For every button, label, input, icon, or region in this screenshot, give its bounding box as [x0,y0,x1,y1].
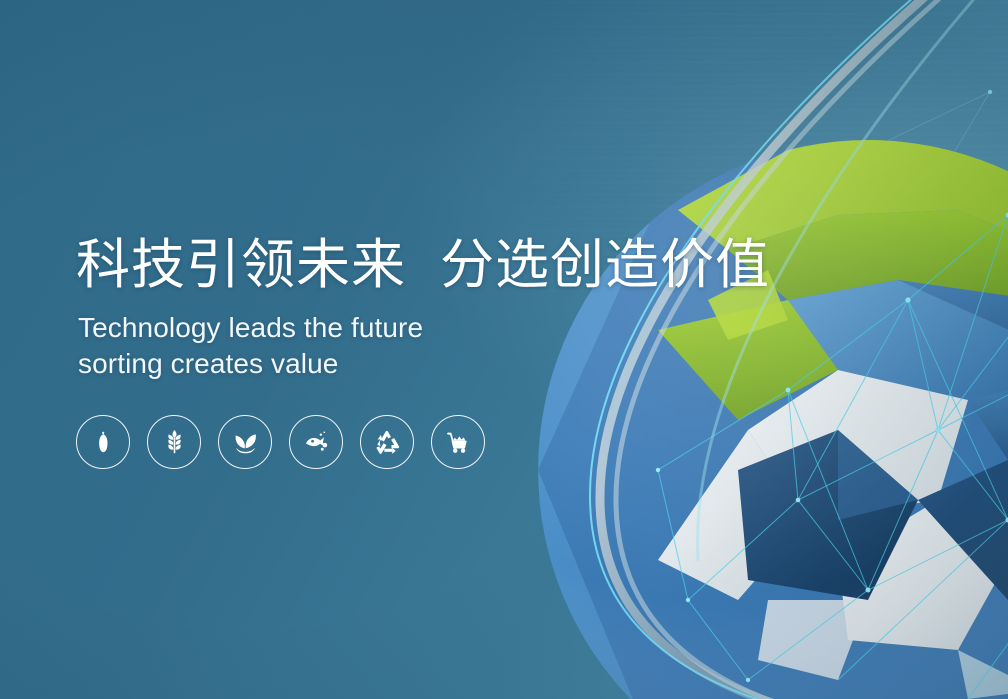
mining-cart-icon [444,428,473,457]
headline-part-2: 分选创造价值 [440,235,770,295]
subtitle: Technology leads the future sorting crea… [78,310,776,382]
subtitle-line-1: Technology leads the future [78,310,776,346]
promo-banner: 科技引领未来分选创造价值 Technology leads the future… [0,0,1008,699]
icon-badge-mining-cart[interactable] [431,415,485,469]
page-title: 科技引领未来分选创造价值 [76,236,776,294]
fish-icon [302,428,331,457]
icon-badge-leaves[interactable] [218,415,272,469]
banner-copy: 科技引领未来分选创造价值 Technology leads the future… [76,236,776,382]
industry-icon-row [76,415,485,469]
icon-badge-recycle[interactable] [360,415,414,469]
leaves-icon [231,428,260,457]
subtitle-line-2: sorting creates value [78,346,776,382]
icon-badge-wheat[interactable] [147,415,201,469]
headline-part-1: 科技引领未来 [76,235,406,295]
icon-badge-rice-grain[interactable] [76,415,130,469]
recycle-icon [373,428,402,457]
wheat-icon [160,428,189,457]
rice-grain-icon [89,428,118,457]
icon-badge-fish[interactable] [289,415,343,469]
